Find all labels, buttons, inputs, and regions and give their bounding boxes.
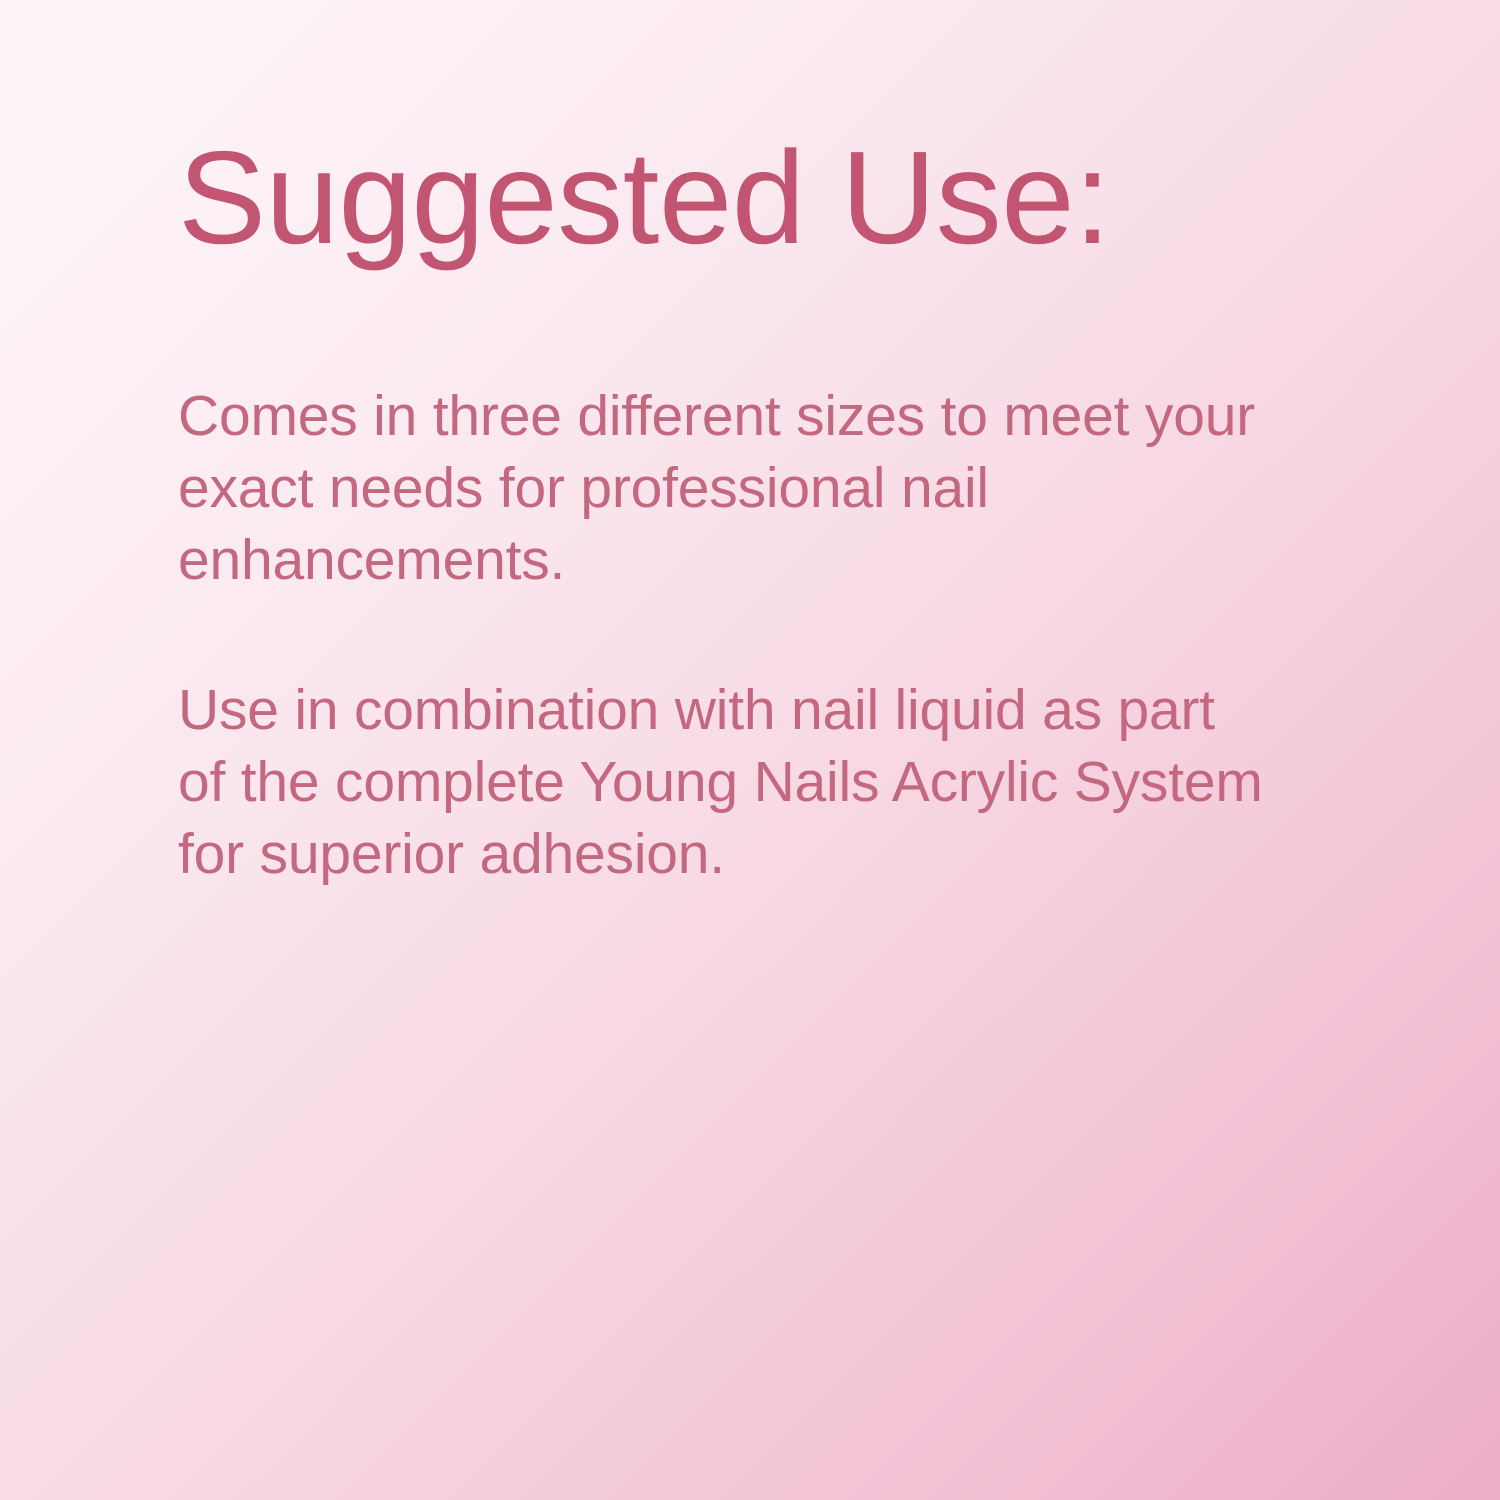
page-title: Suggested Use: (178, 124, 1278, 272)
paragraph-sizes: Comes in three different sizes to meet y… (178, 380, 1270, 596)
paragraph-usage: Use in combination with nail liquid as p… (178, 674, 1270, 890)
content-column: Suggested Use: Comes in three different … (178, 124, 1278, 890)
suggested-use-panel: Suggested Use: Comes in three different … (0, 0, 1500, 1500)
body-text-block: Comes in three different sizes to meet y… (178, 380, 1278, 890)
